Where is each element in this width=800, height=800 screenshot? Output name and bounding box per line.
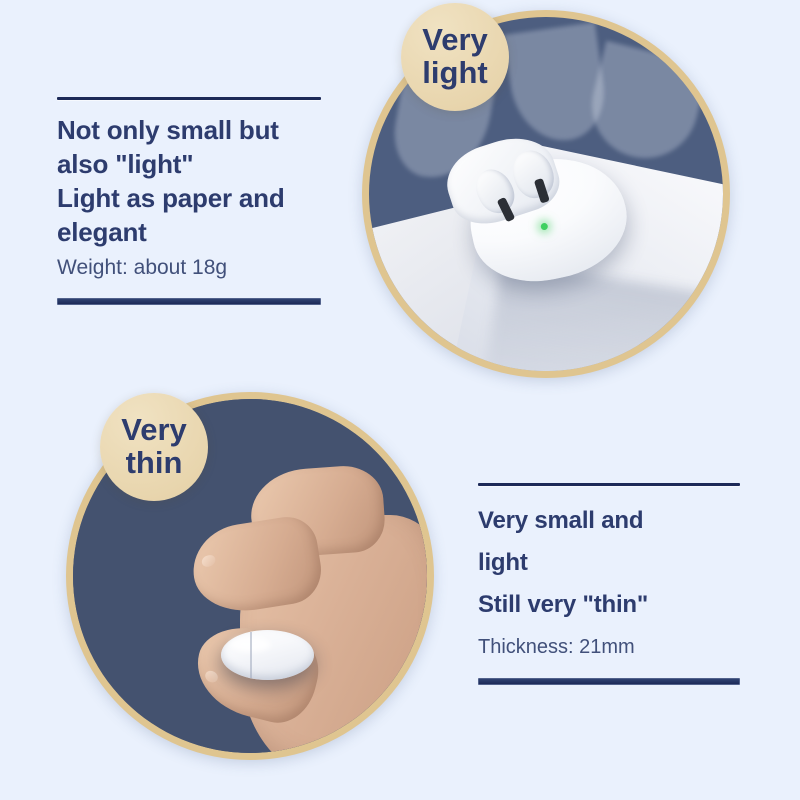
hand-holding-case	[179, 441, 427, 753]
feature-block-light: Not only small butalso "light"Light as p…	[57, 97, 321, 305]
headline-line: light	[478, 549, 528, 576]
divider-bottom	[478, 678, 740, 685]
headline-line: Very small and	[478, 507, 643, 534]
badge-very-light: Verylight	[401, 3, 509, 111]
divider-top	[478, 483, 740, 486]
headline-thin: Very small andlightStill very "thin"	[478, 500, 740, 626]
headline-line: Still very "thin"	[478, 591, 648, 618]
badge-label: Verythin	[121, 414, 187, 480]
badge-line: Very	[121, 412, 187, 447]
headline-light: Not only small butalso "light"Light as p…	[57, 113, 321, 249]
spec-thickness: Thickness: 21mm	[478, 632, 740, 662]
fingernail	[200, 553, 217, 569]
marketing-banner: Not only small butalso "light"Light as p…	[0, 0, 800, 800]
headline-line: also "light"	[57, 149, 193, 179]
headline-line: Not only small but	[57, 115, 279, 145]
earbuds-case-closed	[221, 630, 315, 680]
badge-very-thin: Verythin	[100, 393, 208, 501]
badge-line: thin	[126, 445, 183, 480]
case-seam	[250, 632, 252, 678]
headline-line: Light as paper and	[57, 183, 285, 213]
badge-line: Very	[422, 22, 488, 57]
divider-top	[57, 97, 321, 100]
spec-weight: Weight: about 18g	[57, 254, 321, 282]
badge-line: light	[422, 55, 487, 90]
feature-block-thin: Very small andlightStill very "thin" Thi…	[478, 483, 740, 685]
fingernail	[203, 669, 220, 686]
divider-bottom	[57, 298, 321, 305]
headline-line: elegant	[57, 217, 147, 247]
badge-label: Verylight	[422, 24, 488, 90]
